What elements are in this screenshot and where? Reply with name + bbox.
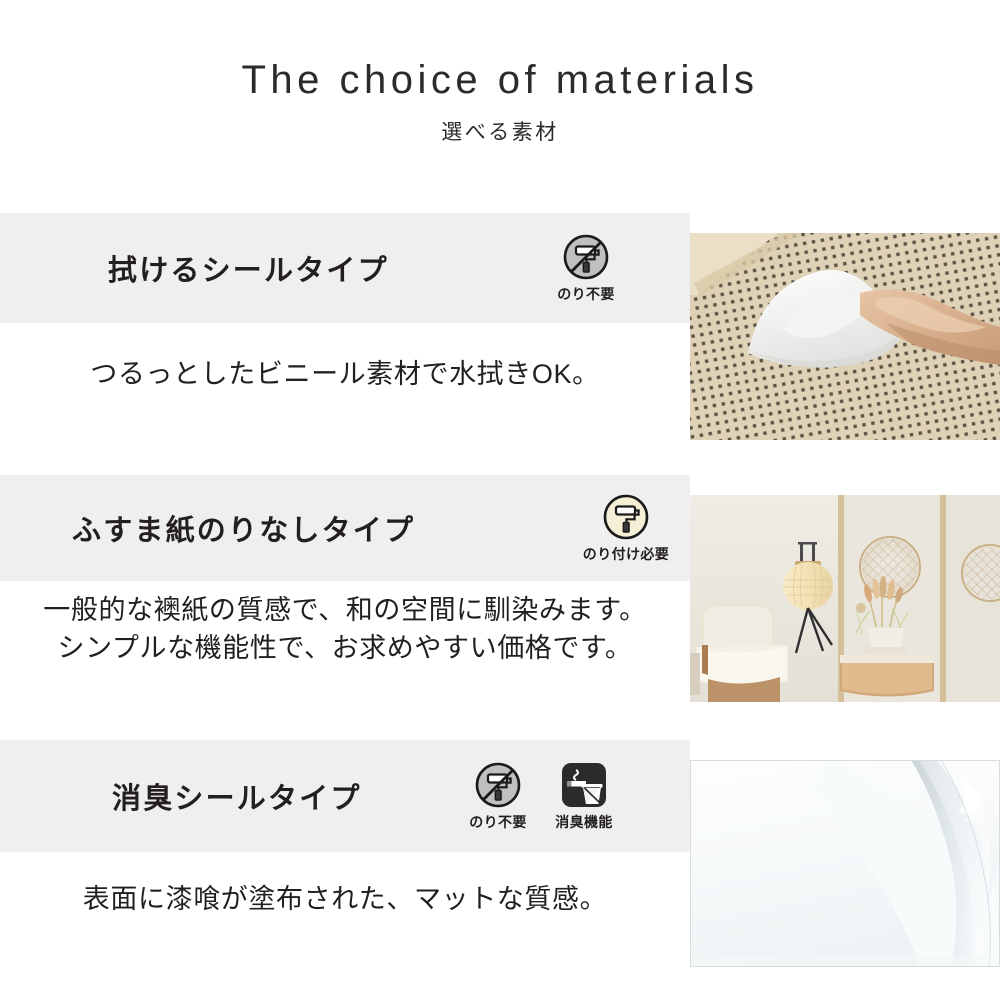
description-line: つるっとしたビニール素材で水拭きOK。 — [0, 355, 690, 393]
paint-roller-prohibited-icon — [562, 233, 610, 281]
badge-group: のり不要 消臭機能 — [462, 761, 620, 832]
badge-label: のり付け必要 — [583, 544, 669, 564]
photo-white-curling-paper — [690, 760, 1000, 967]
badge-no-glue: のり不要 — [462, 761, 534, 832]
section-description: つるっとしたビニール素材で水拭きOK。 — [0, 355, 690, 393]
photo-japanese-interior — [690, 495, 1000, 702]
badge-label: のり不要 — [469, 812, 527, 832]
section-header-band: ふすま紙のりなしタイプ のり付け必要 — [0, 475, 690, 581]
badge-deodorizing: 消臭機能 — [548, 761, 620, 832]
badge-label: のり不要 — [557, 284, 615, 304]
section-description: 一般的な襖紙の質感で、和の空間に馴染みます。 シンプルな機能性で、お求めやすい価… — [0, 591, 690, 668]
description-line: 表面に漆喰が塗布された、マットな質感。 — [0, 880, 690, 918]
section-heading: 拭けるシールタイプ — [108, 247, 389, 289]
white-curling-paper-sheet-photo — [691, 761, 999, 966]
cigarette-trash-deodorize-icon — [560, 761, 608, 809]
page-header: The choice of materials 選べる素材 — [0, 0, 1000, 200]
photo-wiping-rattan-surface — [690, 233, 1000, 440]
description-line: シンプルな機能性で、お求めやすい価格です。 — [0, 629, 690, 667]
badge-group: のり不要 — [550, 233, 622, 304]
section-heading: ふすま紙のりなしタイプ — [72, 507, 415, 549]
page-title: The choice of materials — [0, 0, 1000, 102]
section-description: 表面に漆喰が塗布された、マットな質感。 — [0, 880, 690, 918]
description-line: 一般的な襖紙の質感で、和の空間に馴染みます。 — [0, 591, 690, 629]
paint-roller-prohibited-icon — [474, 761, 522, 809]
wiping-rattan-surface-with-white-towel-photo — [690, 233, 1000, 440]
section-header-band: 拭けるシールタイプ のり不要 — [0, 213, 690, 323]
section-header-band: 消臭シールタイプ のり不要 — [0, 740, 690, 852]
japanese-room-with-fusuma-doors-chair-lantern-photo — [690, 495, 1000, 702]
badge-glue-required: のり付け必要 — [590, 493, 662, 564]
badge-label: 消臭機能 — [555, 812, 613, 832]
section-heading: 消臭シールタイプ — [112, 775, 362, 817]
badge-group: のり付け必要 — [590, 493, 662, 564]
page-subtitle: 選べる素材 — [0, 102, 1000, 146]
paint-roller-icon — [602, 493, 650, 541]
badge-no-glue: のり不要 — [550, 233, 622, 304]
